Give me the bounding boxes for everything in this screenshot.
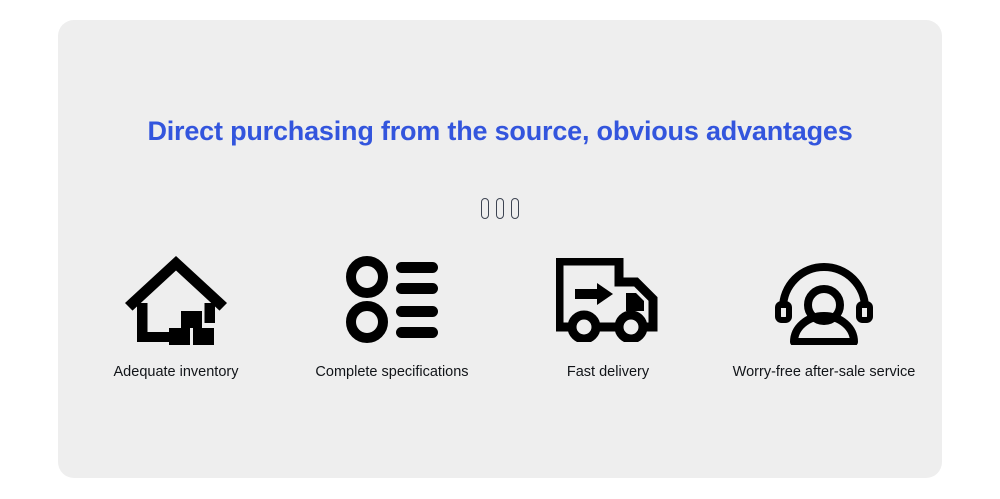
feature-item-inventory[interactable]: Adequate inventory	[68, 252, 284, 381]
feature-item-specifications[interactable]: Complete specifications	[284, 252, 500, 381]
delivery-truck-icon	[553, 252, 663, 348]
feature-item-delivery[interactable]: Fast delivery	[500, 252, 716, 381]
feature-label-inventory: Adequate inventory	[114, 364, 239, 381]
warehouse-inventory-icon	[121, 252, 231, 348]
page-title: Direct purchasing from the source, obvio…	[58, 115, 942, 147]
three-pill-divider	[58, 198, 942, 219]
feature-label-support: Worry-free after-sale service	[733, 364, 916, 381]
pill-icon-1	[481, 198, 489, 219]
feature-label-delivery: Fast delivery	[567, 364, 649, 381]
feature-label-specifications: Complete specifications	[315, 364, 468, 381]
advantages-panel: Direct purchasing from the source, obvio…	[58, 20, 942, 478]
banner-stage: Direct purchasing from the source, obvio…	[0, 0, 1000, 499]
pill-icon-3	[511, 198, 519, 219]
headset-support-icon	[769, 252, 879, 348]
feature-list: Adequate inventory	[58, 252, 942, 381]
specification-list-icon	[337, 252, 447, 348]
pill-icon-2	[496, 198, 504, 219]
feature-item-support[interactable]: Worry-free after-sale service	[716, 252, 932, 381]
